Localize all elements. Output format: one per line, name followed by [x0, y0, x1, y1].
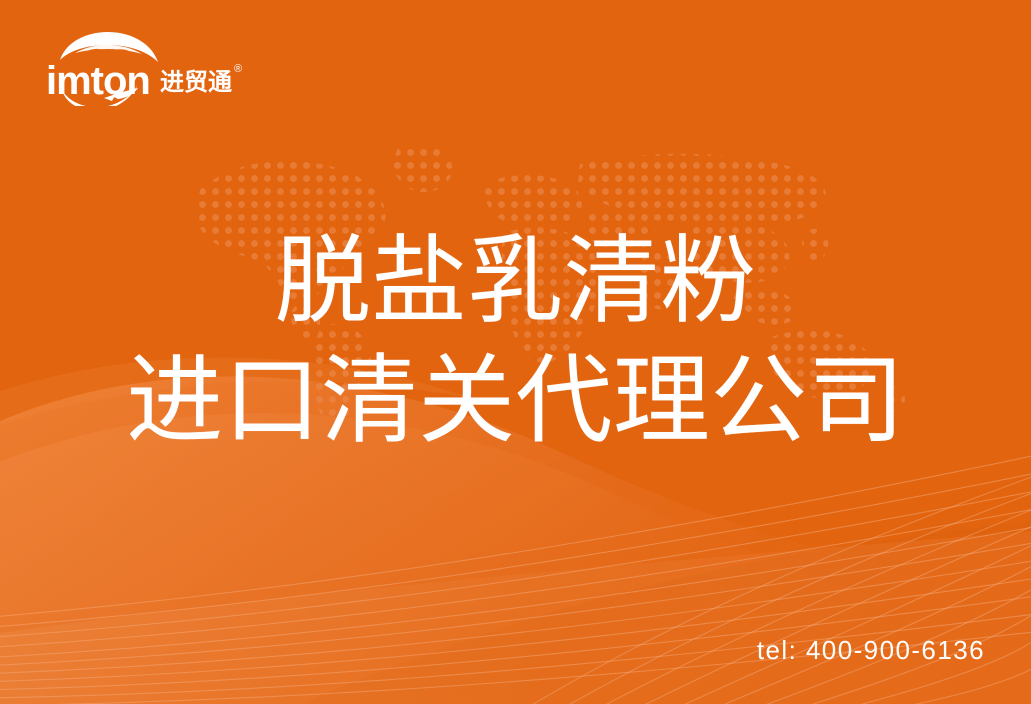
- promo-banner: imton 进贸通 ® 脱盐乳清粉 进口清关代理公司 tel: 400-900-…: [0, 0, 1031, 704]
- globe-arc-icon: imton: [46, 32, 158, 103]
- headline-line-1: 脱盐乳清粉: [0, 226, 1031, 338]
- logo-wordmark: imton: [46, 59, 150, 103]
- brand-logo[interactable]: imton 进贸通 ®: [42, 30, 257, 106]
- contact-phone[interactable]: tel: 400-900-6136: [757, 635, 985, 666]
- headline-line-2: 进口清关代理公司: [0, 344, 1031, 457]
- logo-chinese-name: 进贸通: [160, 68, 232, 96]
- registered-trademark-icon: ®: [234, 63, 242, 75]
- headline: 脱盐乳清粉 进口清关代理公司: [0, 226, 1031, 458]
